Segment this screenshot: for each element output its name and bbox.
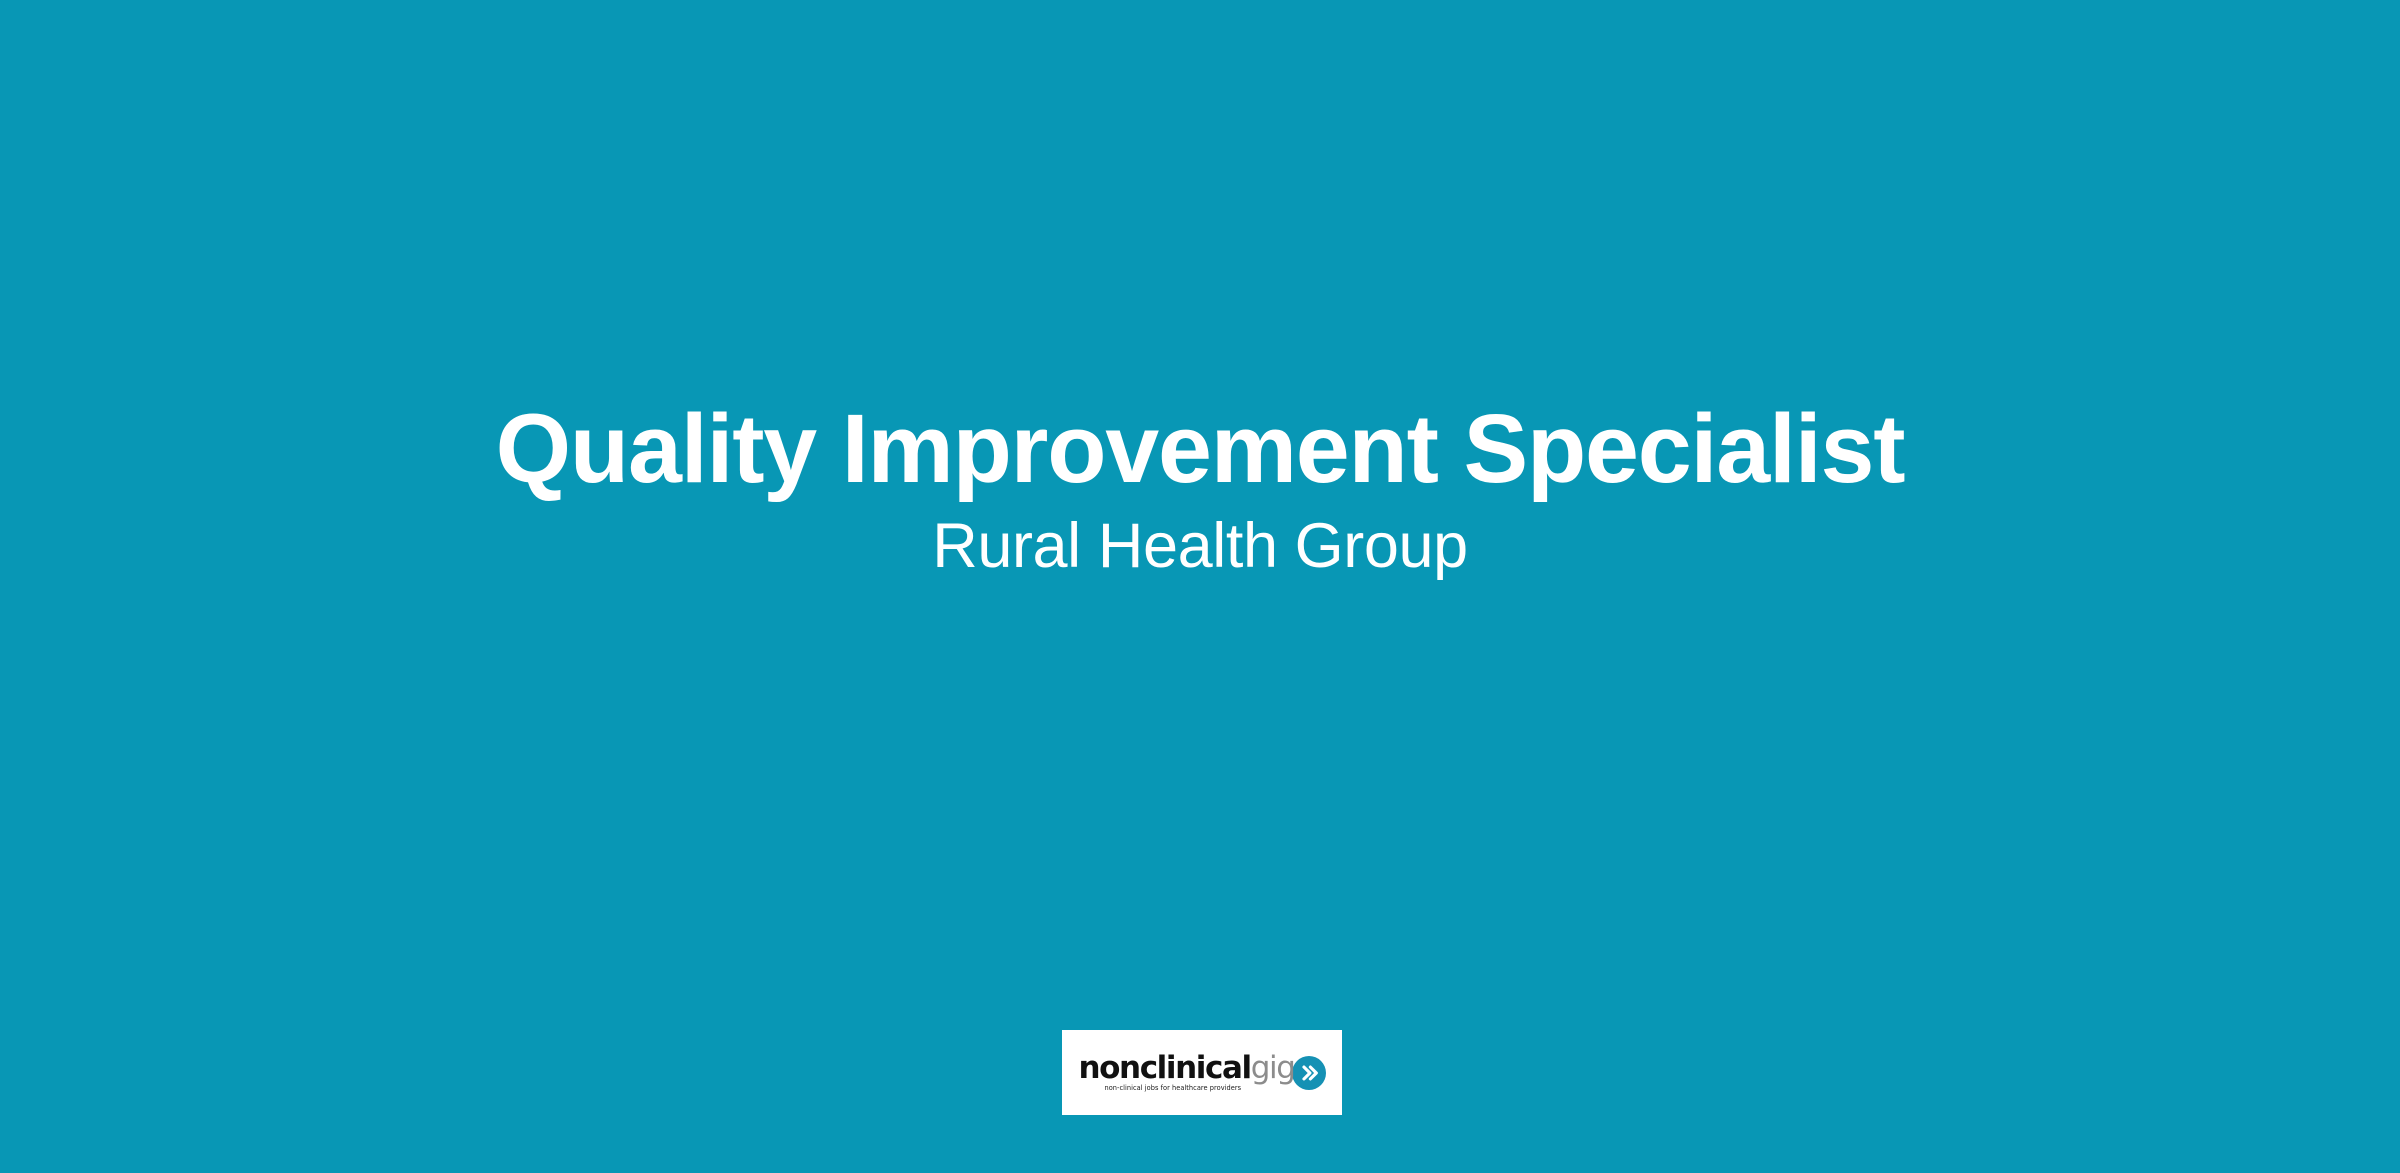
- logo-word-secondary: gig: [1251, 1053, 1295, 1084]
- logo-wordmark: nonclinicalgig non-clinical jobs for hea…: [1078, 1053, 1294, 1092]
- job-title-slide: Quality Improvement Specialist Rural Hea…: [0, 0, 2400, 1173]
- page-title: Quality Improvement Specialist: [0, 398, 2400, 501]
- logo-word-primary: nonclinical: [1078, 1053, 1250, 1084]
- logo-words: nonclinicalgig: [1078, 1053, 1294, 1084]
- double-chevron-right-icon: [1292, 1056, 1326, 1090]
- brand-logo[interactable]: nonclinicalgig non-clinical jobs for hea…: [1062, 1030, 1342, 1115]
- headline-block: Quality Improvement Specialist Rural Hea…: [0, 398, 2400, 581]
- organization-name: Rural Health Group: [0, 511, 2400, 582]
- logo-tagline: non-clinical jobs for healthcare provide…: [1104, 1085, 1241, 1092]
- logo-lockup: nonclinicalgig non-clinical jobs for hea…: [1062, 1053, 1342, 1092]
